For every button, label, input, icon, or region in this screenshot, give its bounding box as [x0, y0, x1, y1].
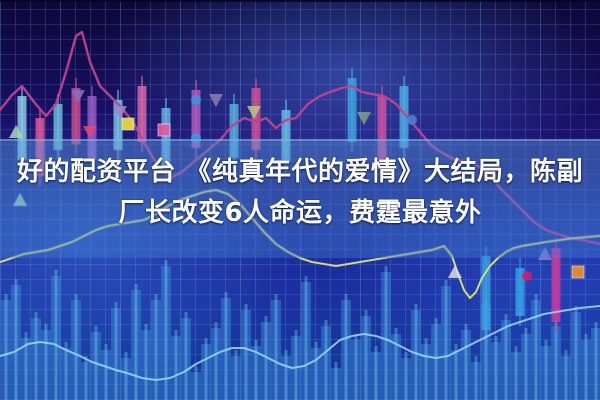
volume-bar-wick: [25, 332, 28, 400]
volume-bar-wick: [325, 320, 328, 400]
volume-bar-wick: [35, 312, 38, 400]
volume-bar-wick: [335, 362, 338, 400]
volume-bar-wick: [465, 324, 468, 400]
volume-bar-wick: [315, 342, 318, 400]
headline-line-1: 好的配资平台 《纯真年代的爱情》大结局，陈副: [0, 152, 600, 193]
volume-bar-group: [1, 260, 600, 400]
marker-square-icon: [572, 266, 584, 278]
volume-bar-wick: [15, 279, 18, 400]
volume-bar-wick: [535, 294, 538, 400]
volume-bar-wick: [135, 284, 138, 400]
volume-bar-wick: [205, 338, 208, 400]
volume-bar-wick: [5, 294, 8, 400]
volume-bar-wick: [545, 340, 548, 400]
volume-bar-wick: [585, 334, 588, 400]
marker-circle-icon: [522, 271, 532, 281]
marker-square-icon: [122, 118, 134, 130]
headline-text: 好的配资平台 《纯真年代的爱情》大结局，陈副 厂长改变6人命运，费霆最意外: [0, 152, 600, 234]
volume-bar-wick: [355, 334, 358, 400]
volume-bar-wick: [345, 294, 348, 400]
marker-triangle-down-icon: [357, 112, 371, 125]
volume-bar-wick: [525, 328, 528, 400]
volume-bar-wick: [425, 338, 428, 400]
volume-bar-wick: [235, 350, 238, 400]
volume-bar-wick: [385, 266, 388, 400]
volume-bar-wick: [225, 292, 228, 400]
volume-bar-wick: [125, 352, 128, 400]
volume-bar-wick: [375, 346, 378, 400]
headline-band-edge: [0, 139, 600, 141]
headline-line-2: 厂长改变6人命运，费霆最意外: [0, 193, 600, 234]
volume-bar-wick: [245, 304, 248, 400]
volume-bar-wick: [305, 276, 308, 400]
volume-bar-wick: [395, 328, 398, 400]
volume-bar-wick: [575, 306, 578, 400]
volume-bar-wick: [75, 294, 78, 400]
volume-bar-wick: [295, 330, 298, 400]
banner-image: 好的配资平台 《纯真年代的爱情》大结局，陈副 厂长改变6人命运，费霆最意外: [0, 0, 600, 400]
volume-bar-wick: [495, 336, 498, 400]
volume-bar-wick: [285, 350, 288, 400]
volume-bar-wick: [145, 324, 148, 400]
volume-bar-wick: [445, 280, 448, 400]
volume-bar-wick: [365, 310, 368, 400]
volume-bar-wick: [115, 302, 118, 400]
volume-bar-wick: [255, 340, 258, 400]
volume-bar-wick: [515, 346, 518, 400]
volume-bar-wick: [155, 294, 158, 400]
volume-bar-wick: [105, 344, 108, 400]
volume-bar-wick: [475, 356, 478, 400]
marker-triangle-up-icon: [448, 265, 462, 278]
marker-circle-icon: [407, 115, 417, 125]
volume-bar-wick: [85, 356, 88, 400]
volume-bar-wick: [195, 366, 198, 400]
volume-bar-wick: [175, 330, 178, 400]
marker-circle-icon: [191, 95, 201, 105]
volume-bar-wick: [405, 352, 408, 400]
volume-bar-wick: [45, 324, 48, 400]
volume-bar-wick: [595, 322, 598, 400]
volume-bar-wick: [215, 322, 218, 400]
volume-bar-wick: [275, 294, 278, 400]
marker-triangle-down-icon: [209, 94, 223, 107]
volume-bar-wick: [55, 270, 58, 400]
volume-bar-wick: [565, 350, 568, 400]
volume-bar-wick: [185, 312, 188, 400]
marker-square-icon: [158, 124, 170, 136]
